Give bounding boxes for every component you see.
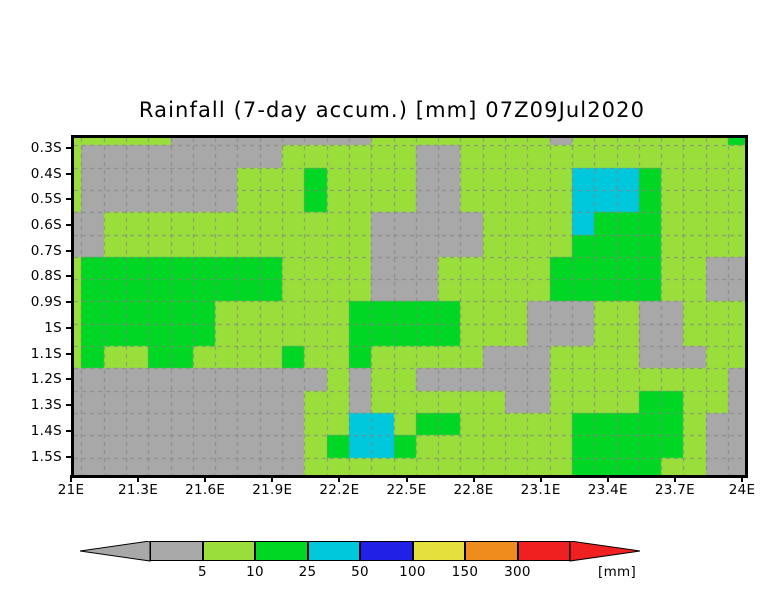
- y-axis-tick-mark: [66, 275, 73, 277]
- y-axis-tick-label: 0.7S: [31, 243, 62, 259]
- chart-figure: Rainfall (7-day accum.) [mm] 07Z09Jul202…: [0, 0, 784, 612]
- y-axis-tick-mark: [66, 198, 73, 200]
- x-axis-tick-mark: [137, 475, 139, 482]
- heatmap-plot-area[interactable]: [71, 135, 748, 478]
- y-axis-tick-mark: [66, 327, 73, 329]
- heatmap-clip: [74, 138, 745, 475]
- colorbar-unit-label: [mm]: [598, 564, 636, 580]
- y-axis-tick-label: 0.8S: [31, 268, 62, 284]
- colorbar-segment-blue[interactable]: [360, 541, 413, 561]
- colorbar-tick-label: 300: [488, 564, 548, 580]
- x-axis-tick-mark: [607, 475, 609, 482]
- y-axis-tick-mark: [66, 173, 73, 175]
- y-axis-tick-mark: [66, 250, 73, 252]
- colorbar-tick-label: 10: [225, 564, 285, 580]
- x-axis-tick-mark: [674, 475, 676, 482]
- y-axis-tick-label: 1.2S: [31, 371, 62, 387]
- y-axis-tick-mark: [66, 301, 73, 303]
- x-axis-tick-mark: [741, 475, 743, 482]
- y-axis-tick-mark: [66, 404, 73, 406]
- y-axis-tick-label: 1.4S: [31, 423, 62, 439]
- colorbar-segment-yellow[interactable]: [413, 541, 466, 561]
- colorbar-tick-label: 150: [435, 564, 495, 580]
- colorbar-tick-label: 50: [330, 564, 390, 580]
- y-axis-tick-label: 0.5S: [31, 191, 62, 207]
- y-axis-tick-mark: [66, 430, 73, 432]
- y-axis-tick-mark: [66, 353, 73, 355]
- y-axis-tick-mark: [66, 456, 73, 458]
- x-axis-tick-label: 24E: [697, 482, 784, 498]
- y-axis-tick-label: 0.6S: [31, 217, 62, 233]
- colorbar-tick-label: 25: [278, 564, 338, 580]
- colorbar-segment-red[interactable]: [518, 541, 571, 561]
- colorbar-legend[interactable]: 5102550100150300: [150, 541, 570, 563]
- colorbar-segment-green[interactable]: [255, 541, 308, 561]
- colorbar-tick-label: 100: [383, 564, 443, 580]
- y-axis-tick-label: 1.1S: [31, 346, 62, 362]
- y-axis-tick-mark: [66, 378, 73, 380]
- colorbar-tick-label: 5: [173, 564, 233, 580]
- y-axis-tick-mark: [66, 224, 73, 226]
- x-axis-tick-mark: [473, 475, 475, 482]
- x-axis-tick-mark: [204, 475, 206, 482]
- x-axis-tick-mark: [70, 475, 72, 482]
- y-axis-tick-mark: [66, 147, 73, 149]
- chart-title: Rainfall (7-day accum.) [mm] 07Z09Jul202…: [0, 98, 784, 122]
- x-axis-tick-mark: [271, 475, 273, 482]
- colorbar-segment-orange[interactable]: [465, 541, 518, 561]
- y-axis-tick-label: 0.4S: [31, 166, 62, 182]
- y-axis-tick-label: 0.9S: [31, 294, 62, 310]
- y-axis-tick-label: 1.3S: [31, 397, 62, 413]
- colorbar-segment-cyan[interactable]: [308, 541, 361, 561]
- x-axis-tick-mark: [406, 475, 408, 482]
- y-axis-tick-label: 0.3S: [31, 140, 62, 156]
- x-axis-tick-mark: [540, 475, 542, 482]
- heatmap-cells: [74, 138, 745, 475]
- y-axis-tick-label: 1S: [44, 320, 62, 336]
- y-axis-tick-label: 1.5S: [31, 449, 62, 465]
- colorbar-segment-yellow-green[interactable]: [203, 541, 256, 561]
- colorbar-segment-gray[interactable]: [150, 541, 203, 561]
- x-axis-tick-mark: [338, 475, 340, 482]
